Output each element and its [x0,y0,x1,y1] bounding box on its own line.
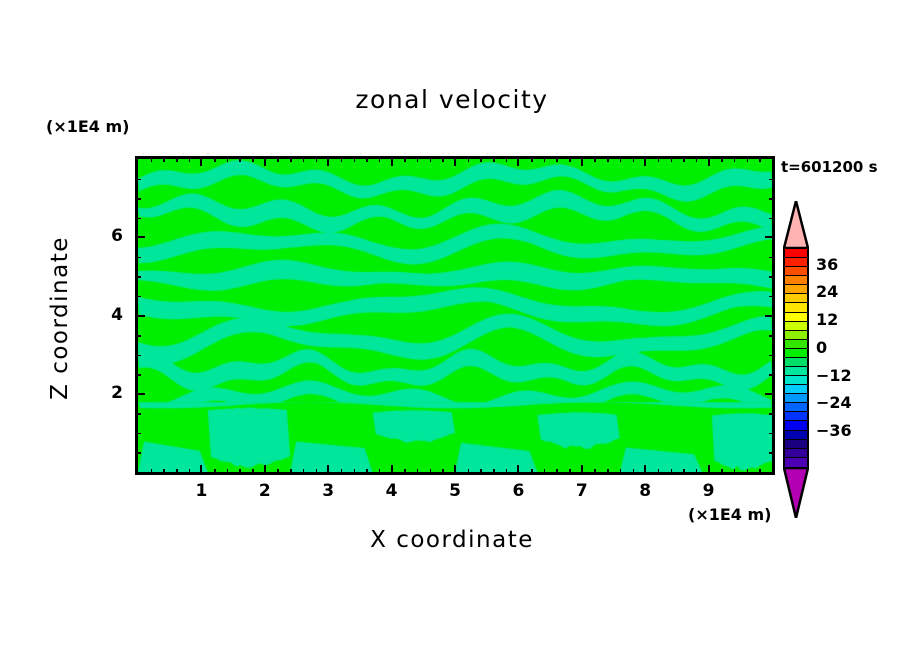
x-tick-label: 9 [694,481,724,501]
y-minor-tick [135,374,141,376]
y-axis-title: Z coordinate [47,218,73,418]
colorbar-tick-label: 0 [816,338,827,357]
contour-plot-area [135,156,775,475]
x-minor-tick [493,469,495,475]
x-minor-tick [671,469,673,475]
x-minor-tick-top [252,156,254,162]
x-minor-tick-top [277,156,279,162]
y-minor-tick-right [769,257,775,259]
colorbar-tick-label: −12 [816,366,852,385]
contour-field-canvas [138,159,772,472]
x-tick-label: 4 [377,481,407,501]
x-axis-unit-label: (×1E4 m) [688,505,771,524]
x-minor-tick-top [480,156,482,162]
x-minor-tick [214,469,216,475]
y-minor-tick-right [769,355,775,357]
x-minor-tick-top [633,156,635,162]
colorbar-band [785,458,807,467]
x-minor-tick [239,469,241,475]
x-major-tick [581,465,583,475]
y-major-tick-right [765,393,775,395]
x-major-tick [200,465,202,475]
x-minor-tick [189,469,191,475]
y-tick-label: 2 [93,383,123,403]
x-tick-label: 7 [567,481,597,501]
y-minor-tick [135,433,141,435]
colorbar-band [785,394,807,403]
colorbar-band [785,358,807,367]
x-minor-tick-top [290,156,292,162]
colorbar-band [785,313,807,322]
y-major-tick-right [765,315,775,317]
x-minor-tick-top [607,156,609,162]
colorbar-tick-label: 36 [816,255,838,274]
x-minor-tick [747,469,749,475]
y-minor-tick [135,452,141,454]
x-minor-tick [354,469,356,475]
x-tick-label: 1 [186,481,216,501]
x-minor-tick-top [442,156,444,162]
y-axis-unit-label: (×1E4 m) [46,117,129,136]
x-tick-label: 6 [503,481,533,501]
x-major-tick [264,465,266,475]
colorbar-over-arrow [783,201,809,248]
colorbar-band [785,440,807,449]
x-minor-tick-top [544,156,546,162]
y-minor-tick [135,276,141,278]
x-minor-tick-top [721,156,723,162]
colorbar-band [785,249,807,258]
x-minor-tick [316,469,318,475]
x-major-tick-top [264,156,266,166]
x-minor-tick-top [468,156,470,162]
x-minor-tick [658,469,660,475]
colorbar-band [785,403,807,412]
x-minor-tick [379,469,381,475]
colorbar-tick-label: −24 [816,393,852,412]
x-minor-tick-top [151,156,153,162]
x-major-tick-top [644,156,646,166]
x-minor-tick [607,469,609,475]
y-major-tick [135,236,145,238]
x-minor-tick [544,469,546,475]
y-minor-tick [135,198,141,200]
x-tick-label: 5 [440,481,470,501]
timestamp-annotation: t=601200 s [781,158,878,176]
x-minor-tick [468,469,470,475]
y-tick-label: 6 [93,226,123,246]
x-minor-tick-top [658,156,660,162]
x-minor-tick [151,469,153,475]
y-major-tick [135,315,145,317]
x-minor-tick [556,469,558,475]
y-minor-tick [135,257,141,259]
x-minor-tick [163,469,165,475]
x-minor-tick [696,469,698,475]
x-minor-tick-top [176,156,178,162]
x-minor-tick [633,469,635,475]
y-major-tick-right [765,236,775,238]
x-minor-tick [480,469,482,475]
colorbar-band [785,322,807,331]
x-minor-tick-top [354,156,356,162]
colorbar-under-arrow [783,468,809,518]
y-major-tick [135,393,145,395]
x-major-tick-top [391,156,393,166]
x-minor-tick-top [759,156,761,162]
x-minor-tick [277,469,279,475]
x-minor-tick [620,469,622,475]
x-minor-tick-top [594,156,596,162]
y-minor-tick [135,218,141,220]
x-major-tick [454,465,456,475]
x-minor-tick [594,469,596,475]
x-minor-tick-top [189,156,191,162]
x-major-tick [708,465,710,475]
x-minor-tick-top [569,156,571,162]
colorbar-band [785,385,807,394]
y-tick-label: 4 [93,305,123,325]
x-minor-tick [341,469,343,475]
x-minor-tick-top [747,156,749,162]
colorbar-band [785,331,807,340]
colorbar-band [785,412,807,421]
x-minor-tick [303,469,305,475]
colorbar [783,247,809,469]
x-minor-tick [404,469,406,475]
x-minor-tick-top [493,156,495,162]
colorbar-band [785,285,807,294]
y-minor-tick-right [769,296,775,298]
colorbar-band [785,431,807,440]
x-minor-tick [430,469,432,475]
colorbar-band [785,303,807,312]
x-minor-tick [417,469,419,475]
colorbar-tick-label: −36 [816,421,852,440]
x-minor-tick-top [734,156,736,162]
y-minor-tick-right [769,374,775,376]
y-minor-tick-right [769,179,775,181]
x-tick-label: 2 [250,481,280,501]
x-minor-tick-top [316,156,318,162]
x-minor-tick [683,469,685,475]
x-major-tick-top [327,156,329,166]
x-minor-tick [531,469,533,475]
x-minor-tick [721,469,723,475]
x-minor-tick-top [239,156,241,162]
x-minor-tick-top [163,156,165,162]
x-major-tick-top [581,156,583,166]
x-minor-tick [366,469,368,475]
colorbar-band [785,349,807,358]
colorbar-band [785,267,807,276]
x-major-tick-top [708,156,710,166]
x-major-tick [644,465,646,475]
x-minor-tick-top [506,156,508,162]
colorbar-tick-label: 24 [816,282,838,301]
y-minor-tick-right [769,218,775,220]
colorbar-band [785,449,807,458]
y-minor-tick-right [769,413,775,415]
colorbar-band [785,367,807,376]
colorbar-band [785,258,807,267]
x-minor-tick-top [531,156,533,162]
x-minor-tick [227,469,229,475]
y-minor-tick-right [769,198,775,200]
x-minor-tick-top [671,156,673,162]
x-minor-tick-top [683,156,685,162]
y-minor-tick-right [769,452,775,454]
x-minor-tick-top [696,156,698,162]
x-minor-tick [759,469,761,475]
x-minor-tick-top [620,156,622,162]
colorbar-band [785,276,807,285]
y-minor-tick [135,355,141,357]
colorbar-tick-label: 12 [816,310,838,329]
colorbar-band [785,421,807,430]
x-tick-label: 3 [313,481,343,501]
x-minor-tick-top [214,156,216,162]
x-minor-tick-top [404,156,406,162]
y-minor-tick [135,179,141,181]
x-minor-tick-top [556,156,558,162]
x-minor-tick [252,469,254,475]
x-minor-tick-top [430,156,432,162]
colorbar-band [785,340,807,349]
x-minor-tick [442,469,444,475]
x-minor-tick-top [227,156,229,162]
x-minor-tick-top [417,156,419,162]
colorbar-band [785,376,807,385]
x-minor-tick-top [366,156,368,162]
x-major-tick-top [200,156,202,166]
y-minor-tick [135,413,141,415]
x-minor-tick-top [379,156,381,162]
x-minor-tick [734,469,736,475]
x-minor-tick-top [341,156,343,162]
x-minor-tick [290,469,292,475]
x-minor-tick-top [303,156,305,162]
x-minor-tick [176,469,178,475]
y-minor-tick-right [769,335,775,337]
y-minor-tick [135,296,141,298]
x-minor-tick [506,469,508,475]
y-minor-tick-right [769,433,775,435]
y-minor-tick [135,335,141,337]
x-major-tick-top [454,156,456,166]
x-major-tick [517,465,519,475]
x-major-tick [327,465,329,475]
x-major-tick-top [517,156,519,166]
x-tick-label: 8 [630,481,660,501]
x-major-tick [391,465,393,475]
y-minor-tick-right [769,276,775,278]
colorbar-band [785,294,807,303]
x-minor-tick [569,469,571,475]
x-axis-title: X coordinate [0,527,904,553]
page-title: zonal velocity [0,85,904,114]
